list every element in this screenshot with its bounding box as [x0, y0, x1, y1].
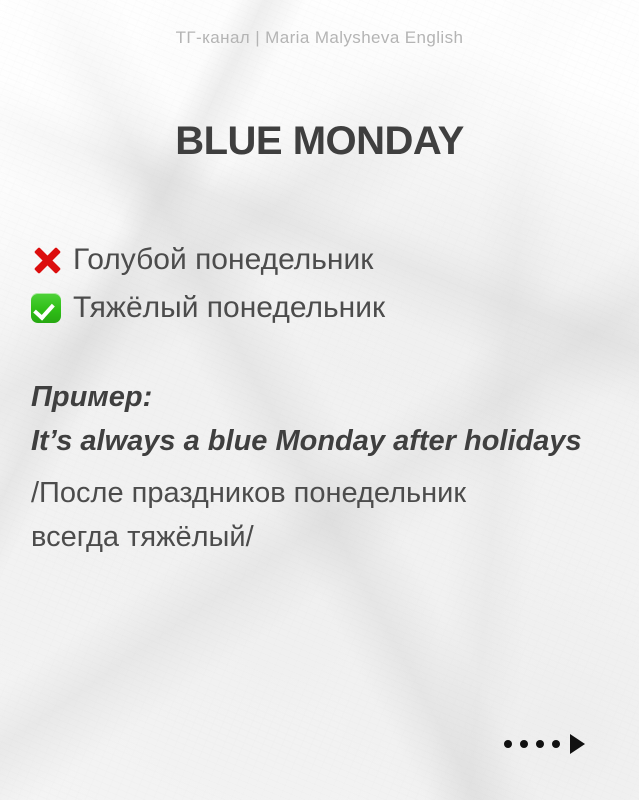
option-label-correct: Тяжёлый понедельник: [73, 291, 385, 325]
swipe-dot-icon: [552, 740, 560, 748]
example-heading: Пример:: [31, 375, 621, 419]
channel-attribution: ТГ-канал | Maria Malysheva English: [0, 28, 639, 48]
example-sentence-english: It’s always a blue Monday after holidays: [31, 419, 621, 463]
slide-content: ТГ-канал | Maria Malysheva English BLUE …: [0, 0, 639, 800]
option-row-correct: Тяжёлый понедельник: [31, 286, 591, 330]
cross-mark-icon: [31, 244, 64, 277]
option-row-incorrect: Голубой понедельник: [31, 238, 591, 282]
option-label-incorrect: Голубой понедельник: [73, 243, 373, 277]
example-sentence-russian: /После праздников понедельник всегда тяж…: [31, 471, 531, 559]
swipe-dot-icon: [536, 740, 544, 748]
swipe-indicator[interactable]: [504, 734, 585, 754]
example-block: Пример: It’s always a blue Monday after …: [31, 375, 621, 559]
play-triangle-icon[interactable]: [570, 734, 585, 754]
swipe-dot-icon: [520, 740, 528, 748]
check-mark-button-icon: [31, 293, 61, 323]
swipe-dot-icon: [504, 740, 512, 748]
page-title: BLUE MONDAY: [0, 118, 639, 164]
translation-options-list: Голубой понедельник Тяжёлый понедельник: [31, 238, 591, 334]
slide-card: ТГ-канал | Maria Malysheva English BLUE …: [0, 0, 639, 800]
